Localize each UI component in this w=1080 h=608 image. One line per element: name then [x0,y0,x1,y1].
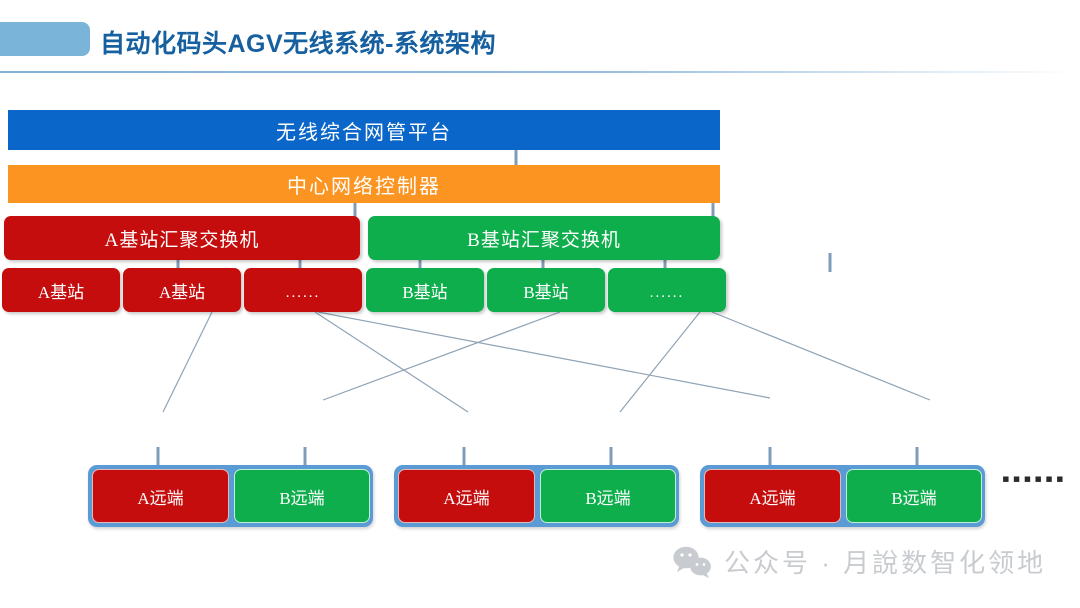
watermark-text: 公众号 · 月說数智化领地 [724,543,1046,580]
remote-unit-b2[interactable]: B远端 [540,469,676,523]
node-base-station-b-more[interactable]: ...... [608,268,726,312]
node-base-station-b2[interactable]: B基站 [487,268,605,312]
node-platform-label: 无线综合网管平台 [276,116,452,145]
remote-group-3: A远端 B远端 [700,465,985,527]
node-base-station-b2-label: B基站 [523,278,568,303]
wechat-icon [672,545,712,579]
remote-unit-a2-label: A远端 [443,484,489,509]
node-base-station-b1-label: B基站 [402,278,447,303]
remote-unit-b3-label: B远端 [891,484,936,509]
remote-unit-a1-label: A远端 [137,484,183,509]
node-base-station-b1[interactable]: B基站 [366,268,484,312]
node-platform[interactable]: 无线综合网管平台 [8,110,720,150]
node-base-station-b-more-label: ...... [650,285,685,302]
node-controller[interactable]: 中心网络控制器 [8,165,720,203]
remote-unit-b1[interactable]: B远端 [234,469,370,523]
architecture-diagram: 无线综合网管平台 中心网络控制器 A基站汇聚交换机 B基站汇聚交换机 A基站 A… [0,0,1080,608]
node-switch-b-label: B基站汇聚交换机 [467,225,621,252]
node-switch-a[interactable]: A基站汇聚交换机 [4,216,360,260]
node-base-station-a-more-label: ...... [286,285,321,302]
node-switch-a-label: A基站汇聚交换机 [105,225,260,252]
node-base-station-a-more[interactable]: ...... [244,268,362,312]
remote-unit-a1[interactable]: A远端 [92,469,229,523]
node-controller-label: 中心网络控制器 [287,170,441,199]
remote-unit-a3[interactable]: A远端 [704,469,841,523]
node-switch-b[interactable]: B基站汇聚交换机 [368,216,720,260]
remote-unit-b2-label: B远端 [585,484,630,509]
node-base-station-a1-label: A基站 [38,278,84,303]
remote-unit-a3-label: A远端 [749,484,795,509]
watermark: 公众号 · 月說数智化领地 [672,543,1046,580]
remote-unit-a2[interactable]: A远端 [398,469,535,523]
remote-group-2: A远端 B远端 [394,465,679,527]
node-base-station-a1[interactable]: A基站 [2,268,120,312]
remote-unit-b3[interactable]: B远端 [846,469,982,523]
remote-groups-ellipsis: ▪▪▪▪▪▪ [1002,466,1067,492]
remote-group-1: A远端 B远端 [88,465,373,527]
remote-unit-b1-label: B远端 [279,484,324,509]
node-base-station-a2-label: A基站 [159,278,205,303]
node-base-station-a2[interactable]: A基站 [123,268,241,312]
